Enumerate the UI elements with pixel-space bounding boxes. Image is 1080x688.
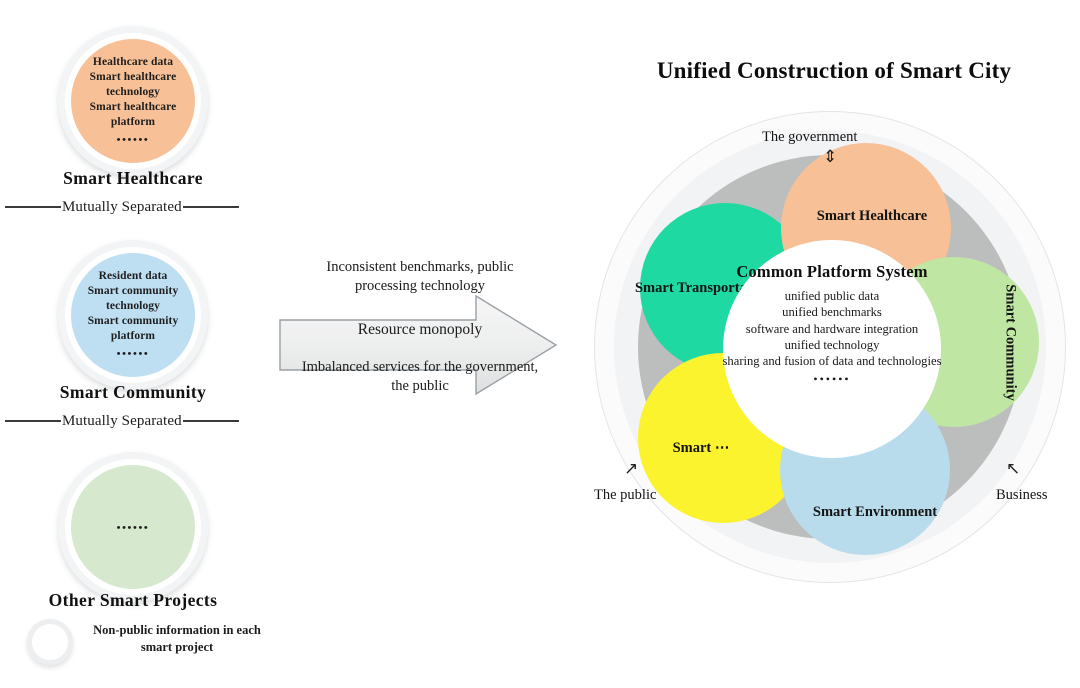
separator-line-right: [183, 420, 239, 422]
ellipsis-dots: ••••••: [707, 372, 957, 388]
project-text-block: Resident data Smart community technology…: [71, 269, 195, 361]
petal-label: Smart Environment: [813, 504, 937, 521]
project-title-smart-community: Smart Community: [8, 382, 258, 403]
core-title: Common Platform System: [736, 262, 927, 282]
arrow-up-right-icon: ↗: [624, 460, 638, 477]
core-item: unified benchmarks: [707, 304, 957, 320]
petal-label: Smart ⋯: [673, 440, 730, 457]
project-line: Smart community technology: [71, 284, 195, 314]
diagram-canvas: Healthcare data Smart healthcare technol…: [0, 0, 1080, 688]
project-circle-smart-healthcare: Healthcare data Smart healthcare technol…: [58, 26, 208, 176]
stakeholder-the-government: The government: [762, 129, 857, 146]
core-item: software and hardware integration: [707, 321, 957, 337]
arrow-caption-bottom: Imbalanced services for the government, …: [295, 358, 545, 396]
separator-line-left: [5, 206, 61, 208]
ellipsis-dots: ••••••: [71, 347, 195, 361]
separator-label: Mutually Separated: [61, 413, 183, 430]
stakeholder-business: Business: [996, 487, 1048, 504]
core-item-list: unified public data unified benchmarks s…: [707, 288, 957, 387]
project-line: Smart healthcare platform: [71, 100, 195, 130]
separator-mutually-separated-1: Mutually Separated: [5, 198, 263, 216]
circle-core: ••••••: [71, 465, 195, 589]
core-item: unified public data: [707, 288, 957, 304]
separator-mutually-separated-2: Mutually Separated: [5, 412, 263, 430]
project-line: Smart community platform: [71, 314, 195, 344]
legend-ring-icon: [27, 619, 73, 665]
common-platform-core: Common Platform System unified public da…: [723, 240, 941, 458]
project-line: Resident data: [71, 269, 195, 284]
legend-description: Non-public information in each smart pro…: [82, 622, 272, 656]
project-title-other-smart-projects: Other Smart Projects: [8, 590, 258, 611]
project-circle-smart-community: Resident data Smart community technology…: [58, 240, 208, 390]
ellipsis-dots: ••••••: [71, 133, 195, 147]
core-item: sharing and fusion of data and technolog…: [707, 353, 957, 369]
circle-core: Resident data Smart community technology…: [71, 253, 195, 377]
separator-label: Mutually Separated: [61, 199, 183, 216]
double-arrow-vertical-icon: ⇕: [823, 148, 837, 165]
ellipsis-dots: ••••••: [71, 521, 195, 535]
arrow-label: Resource monopoly: [295, 320, 545, 340]
stakeholder-the-public: The public: [594, 487, 656, 504]
smart-city-diagram: Smart Transportation Smart Healthcare Sm…: [588, 105, 1080, 597]
project-circle-other-smart-projects: ••••••: [58, 452, 208, 602]
project-line: Healthcare data: [71, 55, 195, 70]
petal-label: Smart Healthcare: [817, 208, 927, 225]
project-text-block: Healthcare data Smart healthcare technol…: [71, 55, 195, 147]
separator-line-left: [5, 420, 61, 422]
core-item: unified technology: [707, 337, 957, 353]
page-title: Unified Construction of Smart City: [588, 58, 1080, 84]
separator-line-right: [183, 206, 239, 208]
project-text-block: ••••••: [71, 518, 195, 535]
project-line: Smart healthcare technology: [71, 70, 195, 100]
petal-label: Smart Community: [1002, 284, 1019, 400]
project-title-smart-healthcare: Smart Healthcare: [8, 168, 258, 189]
arrow-up-left-icon: ↖: [1006, 460, 1020, 477]
circle-core: Healthcare data Smart healthcare technol…: [71, 39, 195, 163]
